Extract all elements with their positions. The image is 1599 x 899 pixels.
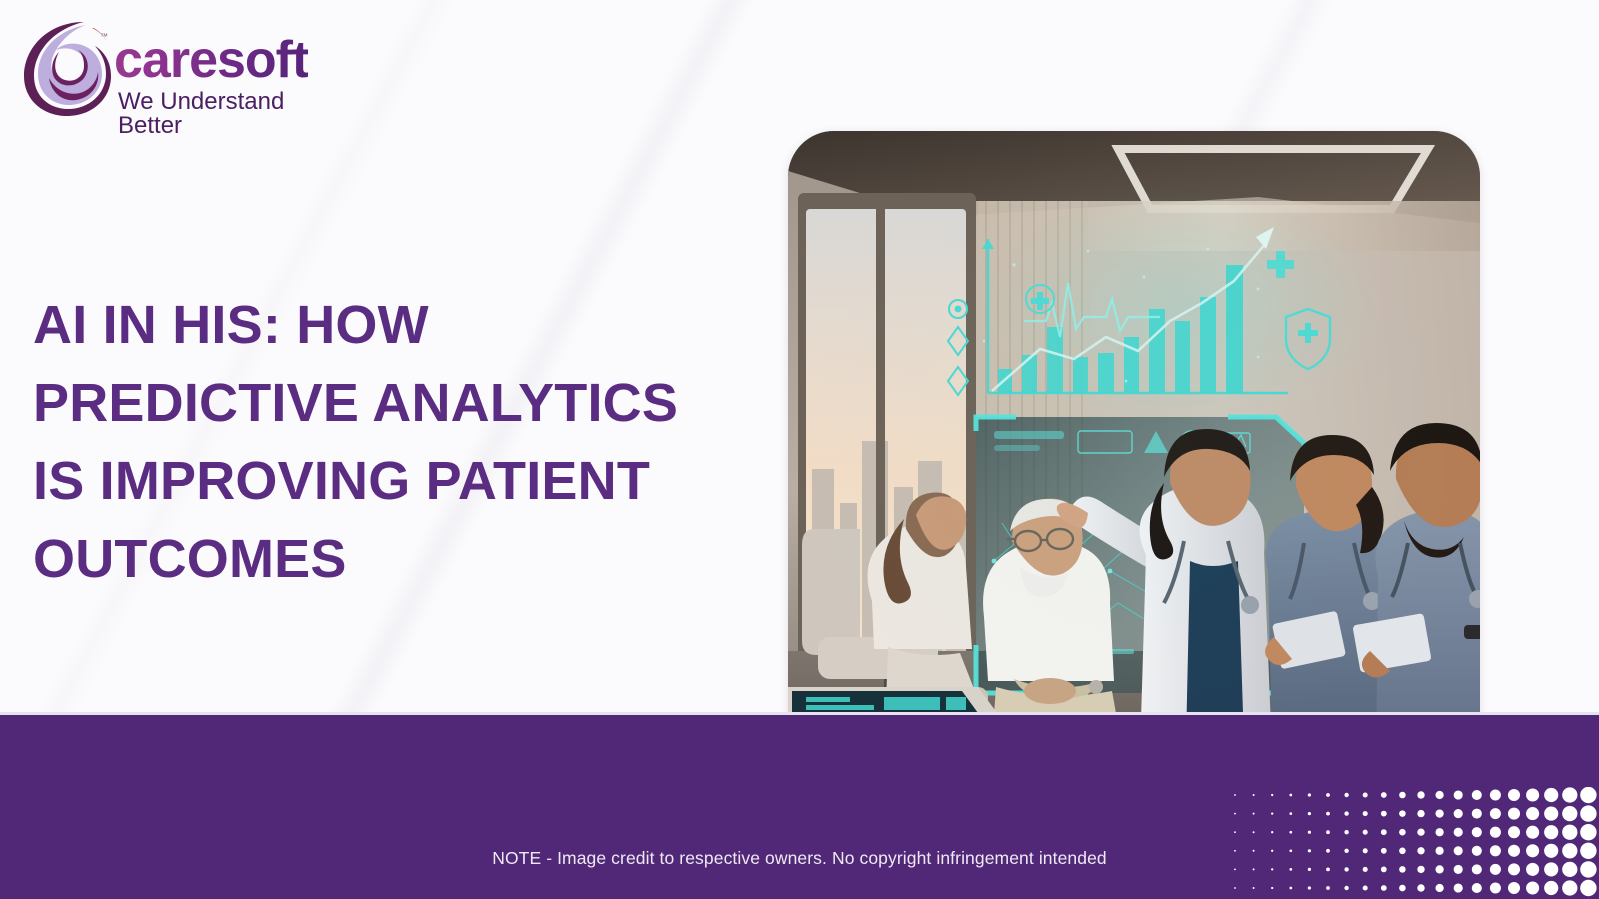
- halftone-dot-grid: [1227, 787, 1599, 899]
- logo-tagline: We Understand Better: [118, 90, 354, 138]
- title-line-1: AI IN HIS: HOW: [33, 286, 793, 364]
- title-line-2: PREDICTIVE ANALYTICS: [33, 364, 793, 442]
- caresoft-logo[interactable]: caresoft ™ We Understand Better: [14, 14, 354, 124]
- title-line-4: OUTCOMES: [33, 520, 793, 598]
- poster-canvas: caresoft ™ We Understand Better AI IN HI…: [0, 0, 1599, 899]
- page-title: AI IN HIS: HOW PREDICTIVE ANALYTICS IS I…: [33, 286, 793, 598]
- trademark-symbol: ™: [100, 32, 108, 41]
- hero-image: [788, 131, 1480, 785]
- title-line-3: IS IMPROVING PATIENT: [33, 442, 793, 520]
- logo-wordmark: caresoft: [114, 34, 308, 86]
- copyright-note: NOTE - Image credit to respective owners…: [0, 848, 1599, 869]
